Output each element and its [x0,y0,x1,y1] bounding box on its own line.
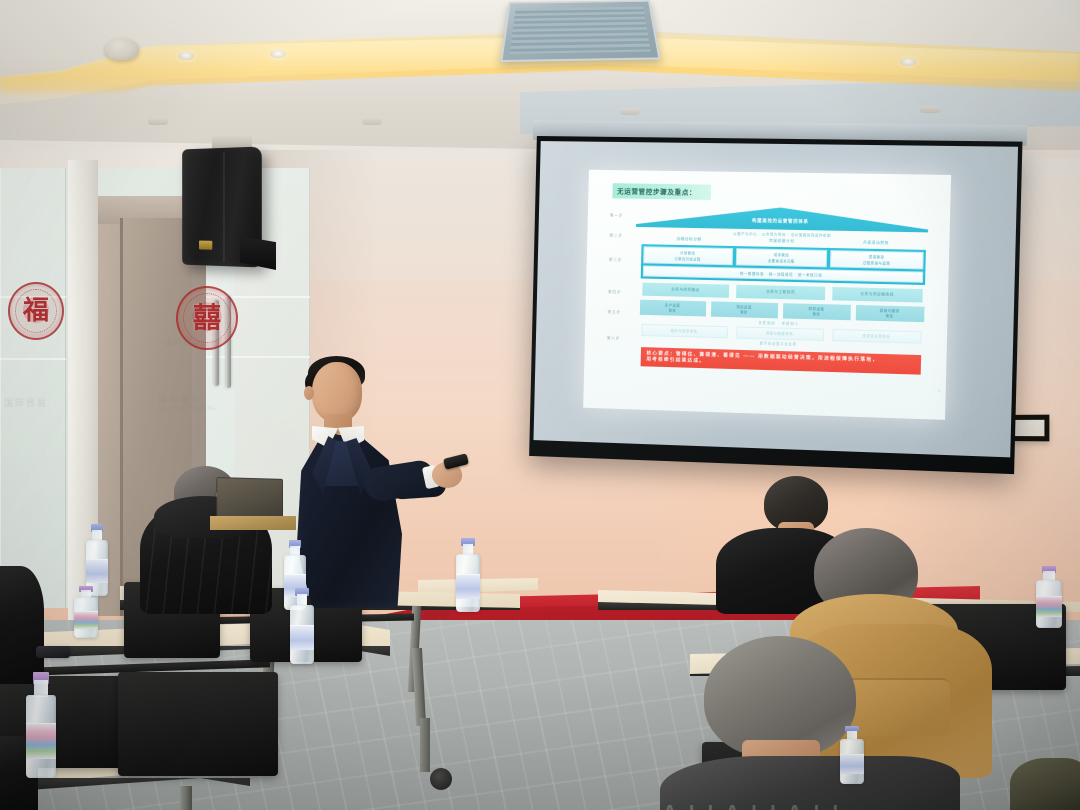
table-leg [420,718,430,772]
tier2-item: 战略目标分解 [676,237,701,243]
row-label: 第六步 [598,336,628,342]
ceiling-vent-slot [620,108,640,115]
roof-label: 构建高效的运营管控体系 [752,218,809,230]
ceiling-vent-slot [362,118,382,125]
diagram-tier-3: 业务与财务融合 业务与工程协同 业务与供应链协同 [642,282,923,302]
downlight-icon [900,58,916,66]
screen-frame: 无运营管控步骤及重点： 第一步 第二步 第三步 第四步 第五步 第六步 [529,136,1022,474]
list-item [0,566,56,686]
attendee-jacket [0,566,44,684]
row-label: 第一步 [601,214,631,220]
bottle-label [456,574,480,599]
pillar-box: 计划管控 订单交付全过程 [643,246,733,265]
tier4-box: 营销与服务 管控 [855,305,924,322]
glass-etch-brand-cn: 国际贸易 [158,392,202,405]
chair[interactable] [118,672,278,776]
downlight-icon [178,52,194,60]
ceiling-speaker-icon [105,38,139,60]
tier3-box: 业务与财务融合 [642,282,730,297]
row-label: 第二步 [601,234,631,240]
row-label: 第五步 [599,310,629,316]
slide-title: 无运营管控步骤及重点： [612,183,711,200]
list-item [660,636,990,810]
pillar-sub: 全要素成本归集 [768,258,795,264]
tier2-item: 月度滚动预测 [863,240,889,246]
row-label: 第三步 [600,258,630,264]
list-item [1010,758,1080,810]
tier4-box: 项目运营 管控 [710,301,777,318]
pillar-sub: 过程质量与追溯 [863,260,890,266]
projected-slide: 无运营管控步骤及重点： 第一步 第二步 第三步 第四步 第五步 第六步 [583,170,951,419]
tier3-box: 业务与工程协同 [736,285,825,300]
conference-room-photo: 福 囍 国际贸易 国际贸易 MASTER TRADING 国际贸易 无运营管控步… [0,0,1080,810]
tier4-sub: 管控 [740,310,748,315]
slide-key-banner: 核心要点：管得住、算得清、看得见 —— 用数据驱动经营决策，用流程保障执行落地，… [640,347,921,375]
diagram-body: 构建高效的运营管控体系 以客户为中心 · 以市场为导向 · 全价值链协同运作机制… [627,204,935,410]
water-bottle[interactable] [290,588,314,664]
glass-etch-left-text: 国际贸易 [4,396,48,409]
ceiling-vent-slot [148,118,168,125]
bottle-label [1036,596,1062,617]
tier4-sub: 管控 [886,313,894,318]
row-label: 第四步 [599,290,629,296]
tier5-box: 流程与制度体系 [736,326,824,341]
speaker-badge [199,241,212,250]
attendee-jacket [1010,758,1080,810]
tier4-sub: 管控 [813,311,821,316]
pillar-box: 质量管控 过程质量与追溯 [830,250,923,269]
seal-character: 福 [23,298,49,324]
glass-etch-brand-en: MASTER TRADING [158,406,217,412]
water-bottle[interactable] [1036,566,1062,628]
seal-character: 囍 [193,304,221,332]
tier5-box: 信息化支撑体系 [832,329,922,344]
bottle-label [26,723,56,759]
ceiling-vent-slot [920,106,940,113]
bottle-label [840,754,864,774]
air-vent-icon [500,0,661,62]
projection-screen: 无运营管控步骤及重点： 第一步 第二步 第三步 第四步 第五步 第六步 [529,136,1022,474]
pillar-sub: 订单交付全过程 [674,256,700,262]
glass-etch-top-text: 国际贸易 [165,338,201,348]
tier4-box: 财务运营 管控 [782,303,850,320]
slide-page-number: 6 [938,388,940,392]
bottle-label [86,559,108,583]
tier4-box: 生产运营 管控 [639,300,705,317]
pillar-title: 质量管控 [869,254,885,259]
diagram-roof: 构建高效的运营管控体系 [635,205,928,233]
tier2-item: 年度经营计划 [769,238,795,244]
pillar-title: 计划管控 [680,250,695,255]
bottle-label [290,625,314,651]
table-leg [180,786,192,810]
downlight-icon [270,50,286,58]
water-bottle[interactable] [26,672,56,778]
table-caster-wheel [430,768,452,790]
glass-etch-line [0,358,66,360]
water-bottle[interactable] [74,586,98,638]
pillar-title: 成本管控 [774,252,789,257]
water-bottle[interactable] [840,726,864,784]
attendee-jacket [660,756,960,810]
bottle-label [74,611,98,629]
slide-diagram: 第一步 第二步 第三步 第四步 第五步 第六步 构建高效的运营管控体系 [595,203,937,409]
tier3-box: 业务与供应链协同 [832,287,922,303]
tier4-sub: 管控 [669,308,676,313]
diagram-pillars: 计划管控 订单交付全过程 成本管控 全要素成本归集 质量管控 [640,244,925,285]
jacket-pattern [660,756,960,810]
fu-seal-sticker: 福 [8,282,64,340]
tier5-box: 组织与岗责体系 [641,324,728,338]
presenter-ear [304,386,314,400]
pillar-base-label: 统一数据标准 · 统一流程规范 · 统一考核口径 [740,270,822,277]
screen-surface: 无运营管控步骤及重点： 第一步 第二步 第三步 第四步 第五步 第六步 [533,141,1018,457]
glass-panel-left[interactable] [0,168,66,608]
diagram-row-labels: 第一步 第二步 第三步 第四步 第五步 第六步 [597,204,632,400]
water-bottle[interactable] [456,538,480,612]
presenter-head [312,362,362,422]
pillar-box: 成本管控 全要素成本归集 [736,248,828,267]
smartphone[interactable] [36,646,70,658]
